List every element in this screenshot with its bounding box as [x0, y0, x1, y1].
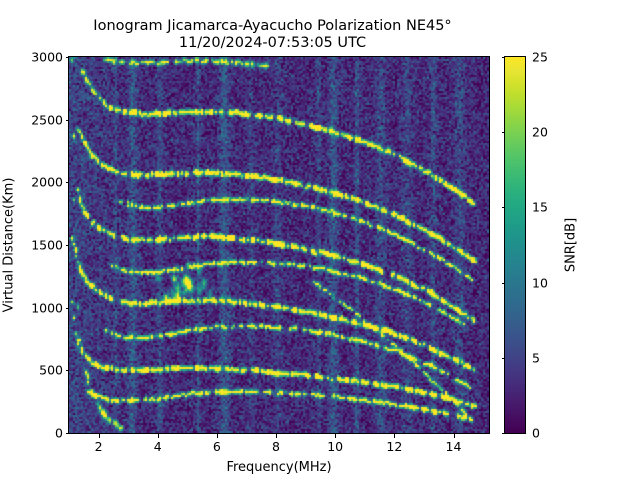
- colorbar-tick-label: 10: [532, 275, 548, 290]
- y-tick-label: 2500: [31, 112, 63, 127]
- colorbar-tick-mark: [502, 433, 506, 434]
- x-tick-mark: [454, 434, 455, 438]
- y-tick-mark: [66, 245, 70, 246]
- ionogram-heatmap: [69, 57, 489, 433]
- x-tick-mark: [217, 434, 218, 438]
- y-tick-mark: [66, 433, 70, 434]
- colorbar-tick-mark: [502, 283, 506, 284]
- colorbar-tick-mark: [502, 132, 506, 133]
- y-tick-label: 500: [39, 363, 63, 378]
- title-line-2: 11/20/2024-07:53:05 UTC: [0, 35, 545, 52]
- colorbar-tick-label: 20: [532, 125, 548, 140]
- y-tick-mark: [66, 120, 70, 121]
- x-tick-label: 6: [213, 439, 221, 454]
- ionogram-figure: Ionogram Jicamarca-Ayacucho Polarization…: [0, 0, 640, 480]
- x-tick-mark: [335, 434, 336, 438]
- title-line-1: Ionogram Jicamarca-Ayacucho Polarization…: [0, 18, 545, 35]
- x-tick-label: 14: [446, 439, 462, 454]
- x-tick-label: 10: [327, 439, 343, 454]
- y-tick-label: 0: [55, 426, 63, 441]
- x-tick-mark: [276, 434, 277, 438]
- colorbar[interactable]: 0510152025 SNR[dB]: [504, 56, 526, 434]
- x-tick-label: 4: [154, 439, 162, 454]
- colorbar-tick-mark: [502, 207, 506, 208]
- y-tick-label: 1000: [31, 300, 63, 315]
- x-tick-mark: [99, 434, 100, 438]
- colorbar-tick-mark: [502, 358, 506, 359]
- colorbar-tick-label: 25: [532, 50, 548, 65]
- x-tick-mark: [394, 434, 395, 438]
- y-tick-label: 2000: [31, 175, 63, 190]
- plot-area[interactable]: 050010001500200025003000 2468101214 Virt…: [68, 56, 490, 434]
- y-tick-label: 1500: [31, 238, 63, 253]
- colorbar-tick-label: 5: [532, 350, 540, 365]
- x-tick-mark: [158, 434, 159, 438]
- y-tick-mark: [66, 182, 70, 183]
- y-tick-mark: [66, 370, 70, 371]
- colorbar-label: SNR[dB]: [564, 218, 579, 272]
- colorbar-tick-mark: [502, 57, 506, 58]
- colorbar-gradient: [505, 57, 525, 433]
- y-tick-label: 3000: [31, 50, 63, 65]
- y-axis-label: Virtual Distance(Km): [2, 178, 17, 313]
- y-tick-mark: [66, 308, 70, 309]
- x-tick-label: 8: [272, 439, 280, 454]
- x-tick-label: 12: [386, 439, 402, 454]
- colorbar-tick-label: 0: [532, 426, 540, 441]
- x-tick-label: 2: [95, 439, 103, 454]
- chart-title: Ionogram Jicamarca-Ayacucho Polarization…: [0, 18, 545, 52]
- colorbar-tick-label: 15: [532, 200, 548, 215]
- y-tick-mark: [66, 57, 70, 58]
- x-axis-label: Frequency(MHz): [226, 460, 331, 475]
